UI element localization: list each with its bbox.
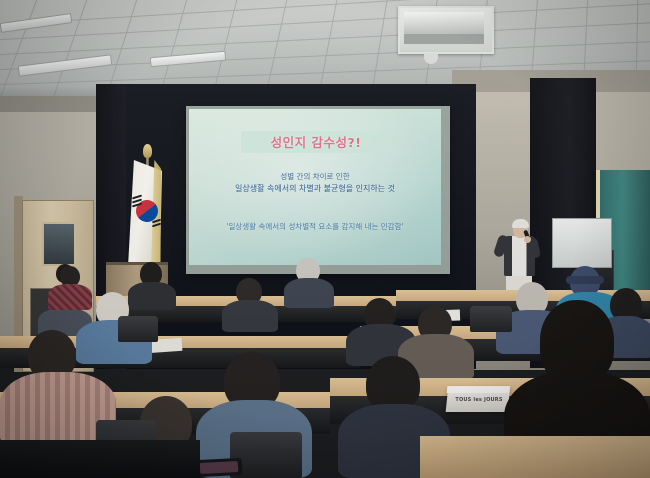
lecture-hall-photo: 성인지 감수성?! 성별 간의 차이로 인한 일상생활 속에서의 차별과 불균형… bbox=[0, 0, 650, 478]
slide-title: 성인지 감수성?! bbox=[241, 132, 391, 151]
bakery-bag-fold bbox=[447, 386, 510, 393]
ceiling-grid-line bbox=[0, 1, 650, 42]
foreground-desk bbox=[420, 436, 650, 478]
shoulders bbox=[222, 300, 278, 332]
slide-line-3: '일상생활 속에서의 성차별적 요소를 감지해 내는 민감함' bbox=[201, 221, 429, 232]
slide-line-1: 성별 간의 차이로 인한 bbox=[215, 171, 415, 182]
bakery-bag-label: TOUS les JOURS bbox=[452, 397, 506, 403]
presentation-slide: 성인지 감수성?! 성별 간의 차이로 인한 일상생활 속에서의 차별과 불균형… bbox=[189, 109, 441, 265]
shoulders bbox=[48, 284, 92, 310]
ac-grill bbox=[404, 34, 484, 44]
ceiling-grid-line bbox=[0, 20, 650, 56]
projection-screen: 성인지 감수성?! 성별 간의 차이로 인한 일상생활 속에서의 차별과 불균형… bbox=[186, 106, 450, 274]
shoulders bbox=[128, 282, 176, 310]
flag-pole-finial bbox=[143, 144, 152, 158]
shoulders bbox=[284, 278, 334, 308]
presenter-hand bbox=[524, 236, 531, 243]
slide-line-2: 일상생활 속에서의 차별과 불균형을 인지하는 것 bbox=[205, 183, 425, 194]
whiteboard bbox=[552, 218, 612, 268]
ac-vent-panel bbox=[404, 12, 484, 34]
presenter-hair bbox=[512, 219, 529, 228]
smartphone-screen[interactable] bbox=[200, 461, 239, 474]
seat-back bbox=[470, 306, 512, 332]
foreground-desk-shadow bbox=[0, 440, 200, 478]
seat-back bbox=[118, 316, 158, 342]
door-window bbox=[42, 222, 76, 266]
ceiling-grid-line bbox=[0, 0, 650, 27]
cap-brim bbox=[566, 276, 604, 284]
